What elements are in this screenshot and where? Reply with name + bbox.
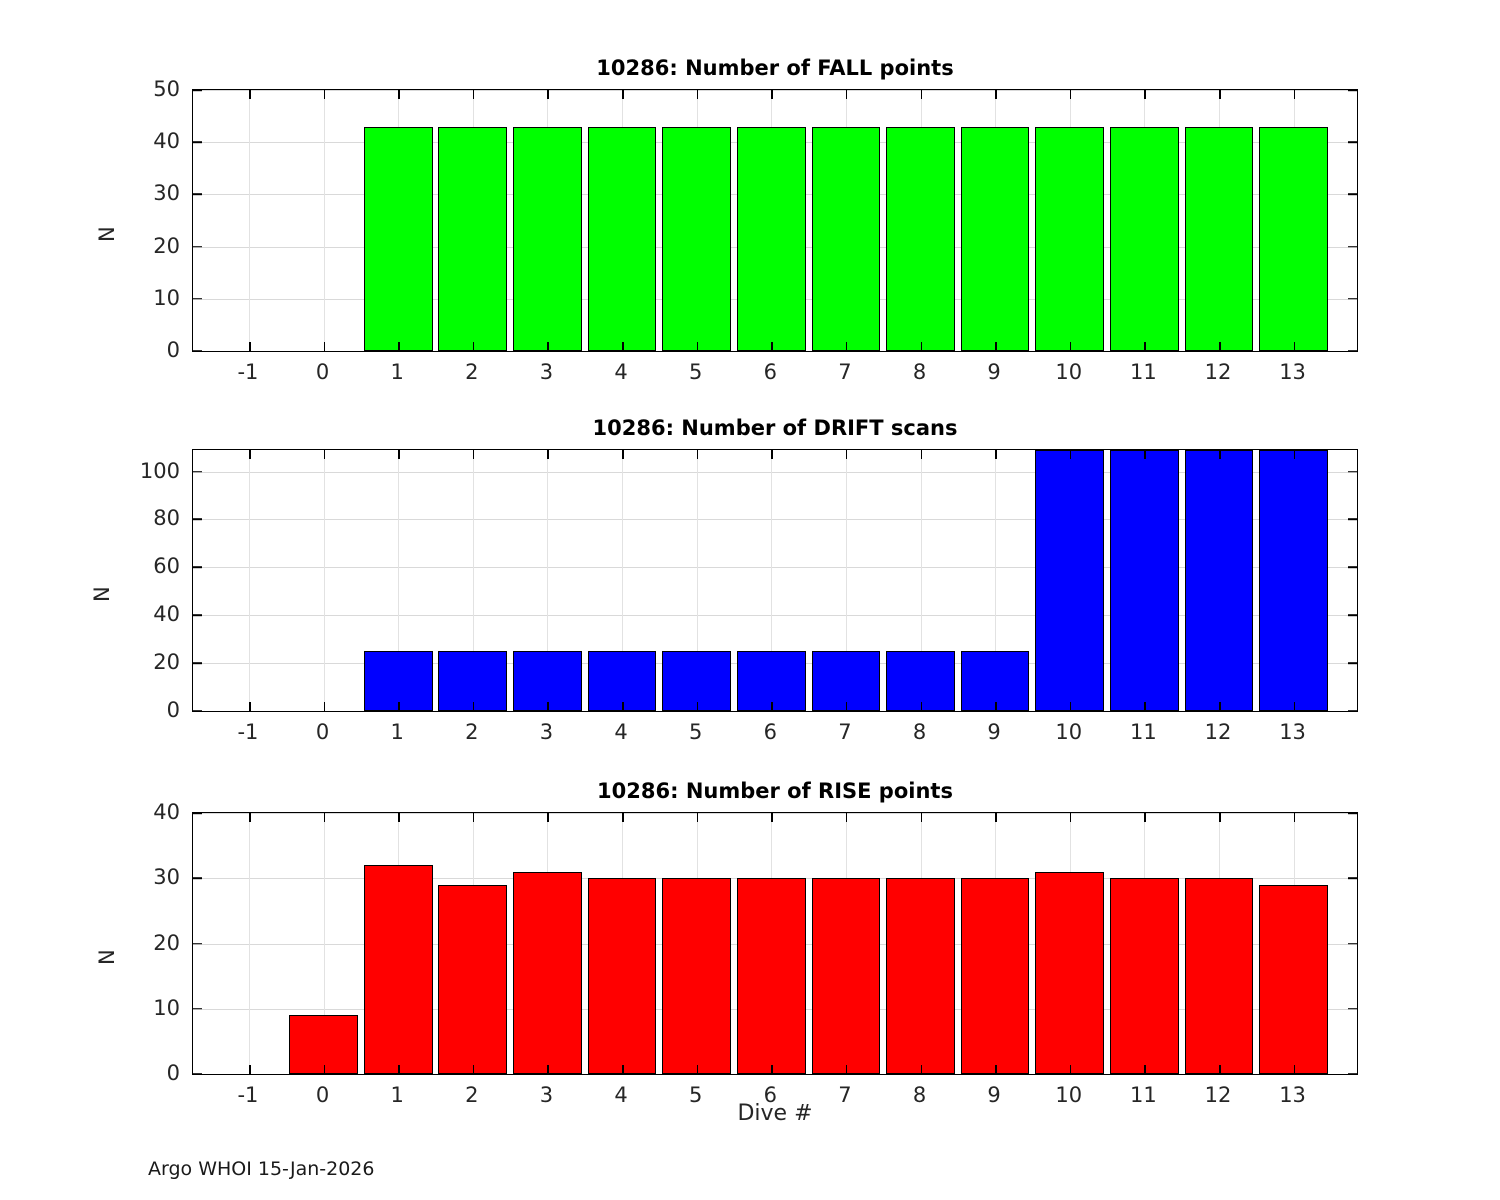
x-tick-mark bbox=[324, 342, 326, 351]
x-tick-label: 4 bbox=[614, 1083, 627, 1107]
x-tick-mark bbox=[473, 342, 475, 351]
x-tick-label: 5 bbox=[689, 360, 702, 384]
x-tick-label: 0 bbox=[316, 360, 329, 384]
x-tick-mark bbox=[622, 813, 624, 822]
gridline-horizontal bbox=[193, 567, 1357, 568]
x-tick-mark bbox=[846, 702, 848, 711]
bar bbox=[737, 127, 806, 351]
y-tick-mark bbox=[1348, 877, 1357, 879]
bar bbox=[364, 865, 433, 1074]
y-tick-label: 0 bbox=[120, 698, 180, 722]
panel-rise-title: 10286: Number of RISE points bbox=[192, 779, 1358, 803]
y-tick-mark bbox=[193, 350, 202, 352]
y-tick-mark bbox=[193, 298, 202, 300]
panel-rise-ylabel: N bbox=[95, 925, 119, 965]
panel-rise: 10286: Number of RISE points N Dive # 01… bbox=[192, 783, 1358, 1075]
x-tick-mark bbox=[1219, 342, 1221, 351]
x-tick-label: 1 bbox=[391, 720, 404, 744]
footer-credit: Argo WHOI 15-Jan-2026 bbox=[148, 1158, 374, 1180]
x-tick-mark bbox=[1294, 702, 1296, 711]
x-tick-mark bbox=[921, 813, 923, 822]
x-tick-mark bbox=[547, 702, 549, 711]
x-tick-mark bbox=[622, 702, 624, 711]
panel-drift: 10286: Number of DRIFT scans N 020406080… bbox=[192, 420, 1358, 712]
x-tick-mark bbox=[771, 450, 773, 459]
x-tick-label: 2 bbox=[465, 360, 478, 384]
y-tick-mark bbox=[193, 567, 202, 569]
x-tick-mark bbox=[1070, 813, 1072, 822]
x-tick-mark bbox=[1144, 813, 1146, 822]
panel-fall-plot-area bbox=[192, 89, 1358, 352]
gridline-vertical bbox=[249, 813, 250, 1074]
x-tick-mark bbox=[547, 1065, 549, 1074]
y-tick-mark bbox=[1348, 246, 1357, 248]
y-tick-mark bbox=[193, 194, 202, 196]
bar bbox=[812, 878, 881, 1074]
bar bbox=[513, 872, 582, 1074]
y-tick-mark bbox=[1348, 298, 1357, 300]
bar bbox=[1110, 878, 1179, 1074]
gridline-horizontal bbox=[193, 519, 1357, 520]
y-tick-label: 100 bbox=[120, 459, 180, 483]
x-tick-mark bbox=[1219, 813, 1221, 822]
bar bbox=[886, 878, 955, 1074]
panel-drift-ylabel: N bbox=[90, 562, 114, 602]
bar bbox=[1259, 127, 1328, 351]
x-tick-label: 3 bbox=[540, 1083, 553, 1107]
bar bbox=[1185, 127, 1254, 351]
x-tick-label: 9 bbox=[987, 1083, 1000, 1107]
x-tick-mark bbox=[771, 1065, 773, 1074]
x-tick-label: 7 bbox=[838, 360, 851, 384]
x-tick-mark bbox=[1294, 813, 1296, 822]
x-tick-label: 0 bbox=[316, 720, 329, 744]
y-tick-mark bbox=[1348, 567, 1357, 569]
x-tick-mark bbox=[324, 450, 326, 459]
y-tick-label: 20 bbox=[120, 234, 180, 258]
x-tick-label: 1 bbox=[391, 1083, 404, 1107]
y-tick-mark bbox=[1348, 89, 1357, 91]
y-tick-label: 40 bbox=[120, 800, 180, 824]
figure-canvas: 10286: Number of FALL points N 010203040… bbox=[0, 0, 1500, 1200]
panel-fall-ylabel: N bbox=[95, 202, 119, 242]
bar bbox=[513, 127, 582, 351]
gridline-vertical bbox=[324, 450, 325, 711]
gridline-horizontal bbox=[193, 813, 1357, 814]
x-tick-label: 3 bbox=[540, 360, 553, 384]
x-tick-mark bbox=[846, 1065, 848, 1074]
x-tick-mark bbox=[921, 1065, 923, 1074]
x-tick-label: 3 bbox=[540, 720, 553, 744]
bar bbox=[438, 127, 507, 351]
y-tick-label: 20 bbox=[120, 931, 180, 955]
x-tick-mark bbox=[697, 90, 699, 99]
x-tick-mark bbox=[473, 813, 475, 822]
x-tick-mark bbox=[249, 342, 251, 351]
x-tick-label: -1 bbox=[237, 1083, 258, 1107]
x-tick-mark bbox=[547, 450, 549, 459]
y-tick-mark bbox=[193, 812, 202, 814]
x-tick-mark bbox=[398, 813, 400, 822]
bar bbox=[588, 878, 657, 1074]
x-tick-mark bbox=[622, 450, 624, 459]
x-tick-mark bbox=[249, 702, 251, 711]
x-tick-mark bbox=[547, 342, 549, 351]
y-tick-mark bbox=[193, 710, 202, 712]
x-tick-mark bbox=[1294, 90, 1296, 99]
x-tick-label: 5 bbox=[689, 720, 702, 744]
x-tick-label: 0 bbox=[316, 1083, 329, 1107]
x-tick-mark bbox=[697, 342, 699, 351]
x-tick-mark bbox=[398, 1065, 400, 1074]
x-tick-mark bbox=[1144, 702, 1146, 711]
x-tick-mark bbox=[995, 90, 997, 99]
y-tick-label: 20 bbox=[120, 650, 180, 674]
y-tick-mark bbox=[1348, 614, 1357, 616]
panel-fall-title: 10286: Number of FALL points bbox=[192, 56, 1358, 80]
x-tick-mark bbox=[771, 90, 773, 99]
x-tick-mark bbox=[1144, 450, 1146, 459]
bar bbox=[1259, 885, 1328, 1074]
x-tick-label: -1 bbox=[237, 360, 258, 384]
x-tick-label: 7 bbox=[838, 720, 851, 744]
x-tick-mark bbox=[846, 90, 848, 99]
y-tick-mark bbox=[1348, 194, 1357, 196]
y-tick-mark bbox=[193, 141, 202, 143]
x-tick-mark bbox=[249, 1065, 251, 1074]
x-tick-mark bbox=[473, 90, 475, 99]
x-tick-mark bbox=[771, 702, 773, 711]
x-tick-label: 11 bbox=[1130, 360, 1157, 384]
bar bbox=[886, 127, 955, 351]
bar bbox=[1185, 450, 1254, 711]
x-tick-mark bbox=[622, 1065, 624, 1074]
x-tick-label: 9 bbox=[987, 720, 1000, 744]
x-tick-label: 12 bbox=[1205, 720, 1232, 744]
gridline-horizontal bbox=[193, 90, 1357, 91]
bar bbox=[1110, 127, 1179, 351]
x-tick-mark bbox=[846, 450, 848, 459]
panel-rise-plot-area bbox=[192, 812, 1358, 1075]
x-tick-label: 8 bbox=[913, 360, 926, 384]
x-tick-mark bbox=[921, 90, 923, 99]
x-tick-label: 13 bbox=[1279, 720, 1306, 744]
panel-drift-plot-area bbox=[192, 449, 1358, 712]
x-tick-mark bbox=[1294, 342, 1296, 351]
y-tick-mark bbox=[193, 943, 202, 945]
x-tick-mark bbox=[622, 90, 624, 99]
y-tick-mark bbox=[1348, 471, 1357, 473]
gridline-vertical bbox=[249, 90, 250, 351]
y-tick-mark bbox=[193, 662, 202, 664]
y-tick-mark bbox=[1348, 519, 1357, 521]
gridline-vertical bbox=[324, 90, 325, 351]
y-tick-mark bbox=[193, 471, 202, 473]
bar bbox=[1259, 450, 1328, 711]
x-tick-mark bbox=[771, 813, 773, 822]
gridline-horizontal bbox=[193, 472, 1357, 473]
x-tick-mark bbox=[1294, 450, 1296, 459]
x-tick-mark bbox=[921, 450, 923, 459]
x-tick-mark bbox=[398, 450, 400, 459]
y-tick-mark bbox=[193, 1073, 202, 1075]
bar bbox=[364, 127, 433, 351]
bar bbox=[737, 878, 806, 1074]
x-tick-mark bbox=[622, 342, 624, 351]
x-tick-label: 4 bbox=[614, 360, 627, 384]
x-tick-mark bbox=[249, 450, 251, 459]
y-tick-mark bbox=[193, 614, 202, 616]
y-tick-label: 40 bbox=[120, 602, 180, 626]
x-tick-mark bbox=[473, 702, 475, 711]
x-tick-mark bbox=[547, 90, 549, 99]
panel-fall: 10286: Number of FALL points N 010203040… bbox=[192, 60, 1358, 352]
x-tick-label: 2 bbox=[465, 720, 478, 744]
x-tick-mark bbox=[1219, 702, 1221, 711]
x-tick-label: 11 bbox=[1130, 1083, 1157, 1107]
bar bbox=[1035, 872, 1104, 1074]
x-tick-mark bbox=[921, 702, 923, 711]
x-tick-label: 1 bbox=[391, 360, 404, 384]
y-tick-mark bbox=[1348, 812, 1357, 814]
x-tick-mark bbox=[324, 1065, 326, 1074]
x-tick-mark bbox=[1070, 90, 1072, 99]
x-tick-label: 6 bbox=[764, 360, 777, 384]
y-tick-label: 60 bbox=[120, 554, 180, 578]
bar bbox=[1110, 450, 1179, 711]
x-tick-mark bbox=[1219, 450, 1221, 459]
x-tick-label: 6 bbox=[764, 1083, 777, 1107]
y-tick-mark bbox=[1348, 662, 1357, 664]
x-tick-mark bbox=[249, 90, 251, 99]
y-tick-mark bbox=[1348, 350, 1357, 352]
bar bbox=[588, 127, 657, 351]
x-tick-mark bbox=[846, 813, 848, 822]
x-tick-mark bbox=[1070, 1065, 1072, 1074]
x-tick-label: -1 bbox=[237, 720, 258, 744]
x-tick-mark bbox=[398, 90, 400, 99]
x-tick-mark bbox=[995, 342, 997, 351]
x-tick-mark bbox=[995, 702, 997, 711]
y-tick-mark bbox=[1348, 141, 1357, 143]
x-tick-mark bbox=[697, 813, 699, 822]
x-tick-label: 10 bbox=[1055, 720, 1082, 744]
y-tick-mark bbox=[193, 1008, 202, 1010]
x-tick-mark bbox=[995, 1065, 997, 1074]
x-tick-label: 13 bbox=[1279, 1083, 1306, 1107]
y-tick-label: 0 bbox=[120, 1061, 180, 1085]
x-tick-label: 9 bbox=[987, 360, 1000, 384]
x-tick-label: 6 bbox=[764, 720, 777, 744]
x-tick-mark bbox=[398, 342, 400, 351]
x-tick-mark bbox=[697, 1065, 699, 1074]
y-tick-mark bbox=[193, 877, 202, 879]
x-tick-mark bbox=[249, 813, 251, 822]
y-tick-mark bbox=[193, 246, 202, 248]
bar bbox=[1185, 878, 1254, 1074]
y-tick-label: 80 bbox=[120, 506, 180, 530]
x-tick-mark bbox=[846, 342, 848, 351]
x-tick-mark bbox=[547, 813, 549, 822]
x-tick-label: 8 bbox=[913, 1083, 926, 1107]
x-tick-mark bbox=[921, 342, 923, 351]
x-tick-mark bbox=[995, 813, 997, 822]
x-tick-label: 10 bbox=[1055, 360, 1082, 384]
x-tick-mark bbox=[1219, 1065, 1221, 1074]
y-tick-mark bbox=[1348, 1008, 1357, 1010]
x-tick-label: 13 bbox=[1279, 360, 1306, 384]
x-tick-mark bbox=[473, 450, 475, 459]
y-tick-label: 40 bbox=[120, 129, 180, 153]
x-tick-mark bbox=[1070, 450, 1072, 459]
y-tick-label: 30 bbox=[120, 865, 180, 889]
bar bbox=[961, 878, 1030, 1074]
x-tick-mark bbox=[1144, 90, 1146, 99]
x-tick-mark bbox=[697, 450, 699, 459]
gridline-vertical bbox=[249, 450, 250, 711]
x-tick-mark bbox=[697, 702, 699, 711]
bar bbox=[438, 885, 507, 1074]
x-tick-label: 11 bbox=[1130, 720, 1157, 744]
x-tick-label: 10 bbox=[1055, 1083, 1082, 1107]
bar bbox=[961, 127, 1030, 351]
y-tick-mark bbox=[1348, 1073, 1357, 1075]
x-tick-mark bbox=[1070, 342, 1072, 351]
gridline-horizontal bbox=[193, 615, 1357, 616]
x-tick-label: 4 bbox=[614, 720, 627, 744]
x-tick-label: 7 bbox=[838, 1083, 851, 1107]
bar bbox=[1035, 450, 1104, 711]
x-tick-mark bbox=[1070, 702, 1072, 711]
x-tick-mark bbox=[1294, 1065, 1296, 1074]
bar bbox=[662, 878, 731, 1074]
x-tick-mark bbox=[771, 342, 773, 351]
x-tick-mark bbox=[324, 813, 326, 822]
bar bbox=[662, 127, 731, 351]
y-tick-label: 50 bbox=[120, 77, 180, 101]
y-tick-mark bbox=[193, 519, 202, 521]
y-tick-label: 0 bbox=[120, 338, 180, 362]
y-tick-label: 10 bbox=[120, 996, 180, 1020]
x-tick-label: 12 bbox=[1205, 1083, 1232, 1107]
x-tick-label: 5 bbox=[689, 1083, 702, 1107]
y-tick-mark bbox=[1348, 943, 1357, 945]
x-tick-mark bbox=[398, 702, 400, 711]
x-tick-mark bbox=[324, 702, 326, 711]
x-tick-label: 12 bbox=[1205, 360, 1232, 384]
x-tick-label: 2 bbox=[465, 1083, 478, 1107]
y-tick-label: 10 bbox=[120, 286, 180, 310]
x-tick-mark bbox=[473, 1065, 475, 1074]
bar bbox=[812, 127, 881, 351]
x-tick-mark bbox=[1219, 90, 1221, 99]
x-tick-mark bbox=[995, 450, 997, 459]
x-tick-label: 8 bbox=[913, 720, 926, 744]
x-tick-mark bbox=[1144, 342, 1146, 351]
y-tick-label: 30 bbox=[120, 181, 180, 205]
y-tick-mark bbox=[1348, 710, 1357, 712]
y-tick-mark bbox=[193, 89, 202, 91]
panel-drift-title: 10286: Number of DRIFT scans bbox=[192, 416, 1358, 440]
bar bbox=[1035, 127, 1104, 351]
x-tick-mark bbox=[1144, 1065, 1146, 1074]
x-tick-mark bbox=[324, 90, 326, 99]
